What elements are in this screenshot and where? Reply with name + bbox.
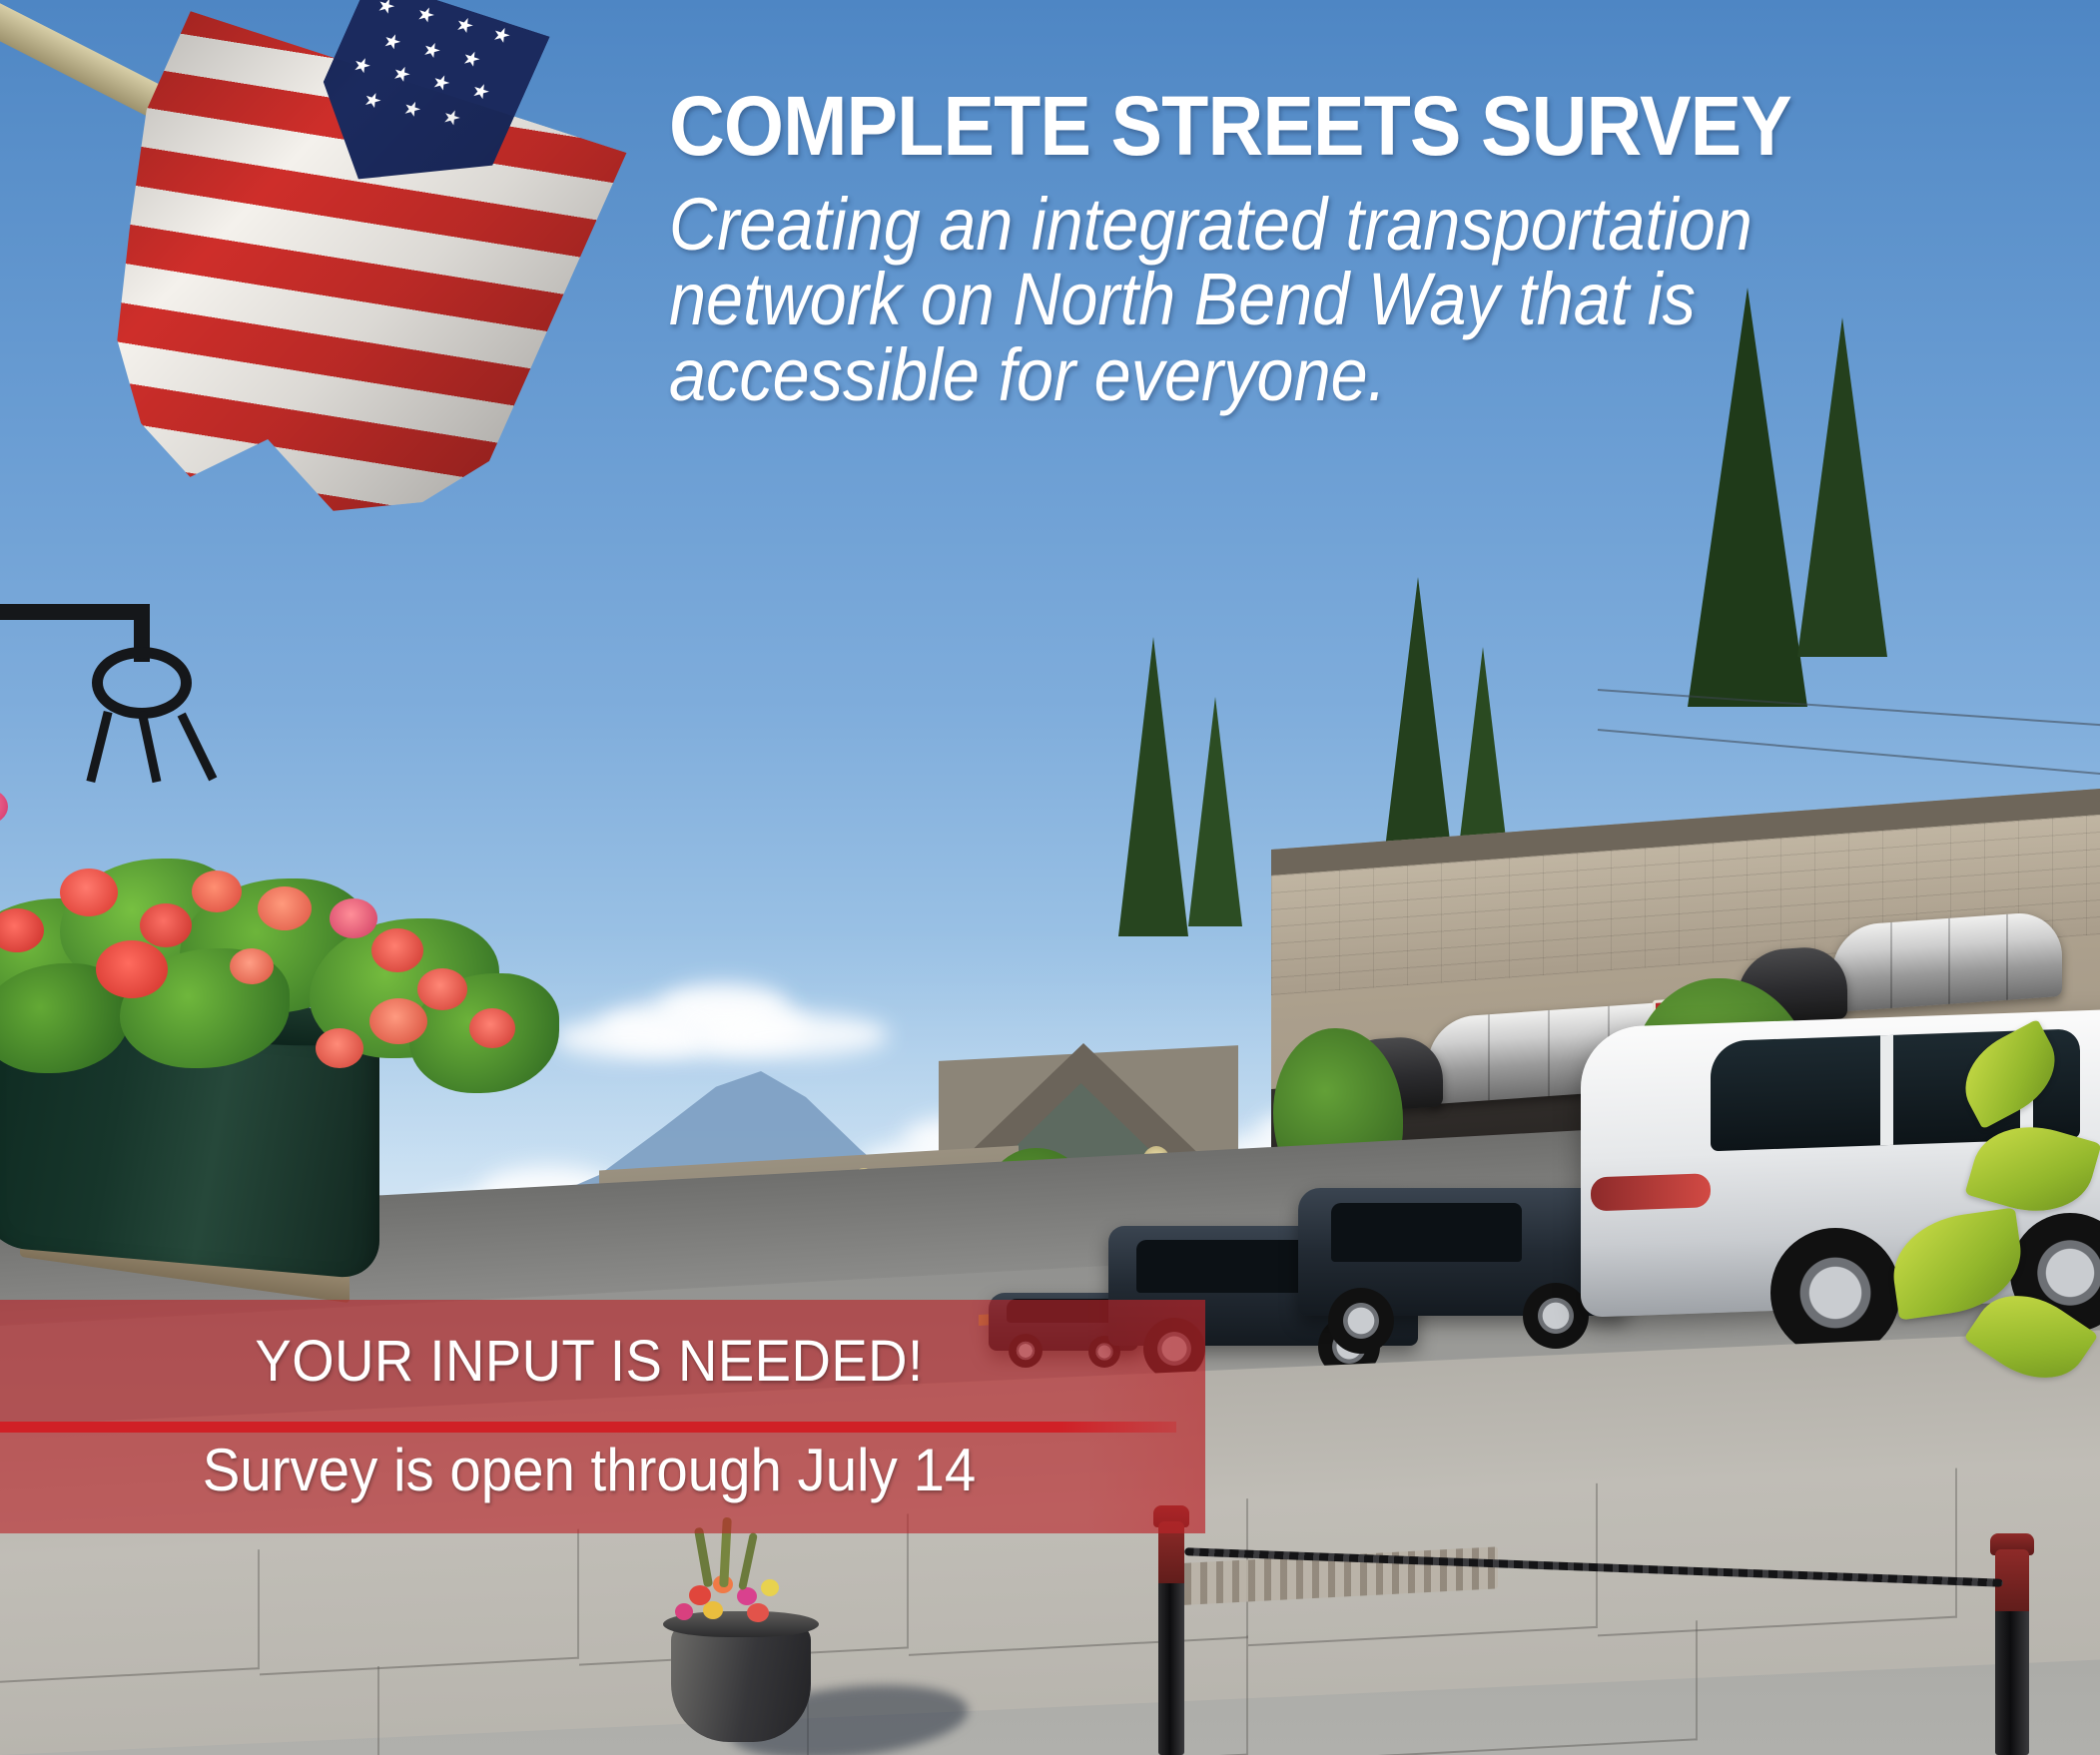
- poster-text-block: COMPLETE STREETS SURVEY Creating an inte…: [669, 78, 2067, 412]
- complete-streets-survey-poster: ★ ★ ★ ★ ★ ★ ★ ★ ★ ★ ★ ★ ★ ★ COMPLETE STR…: [0, 0, 2100, 1755]
- subtitle-line-3: accessible for everyone.: [669, 337, 1927, 412]
- awning-silver-2: [1832, 910, 2062, 1012]
- banner-divider: [0, 1422, 1176, 1433]
- bracket-ring: [92, 647, 192, 719]
- call-to-action-text: YOUR INPUT IS NEEDED!: [35, 1328, 1142, 1395]
- subtitle-line-2: network on North Bend Way that is: [669, 262, 1927, 336]
- suv-wheel-rear: [1770, 1228, 1900, 1358]
- page-title: COMPLETE STREETS SURVEY: [669, 78, 1955, 175]
- sidewalk-planter: [671, 1624, 811, 1742]
- survey-deadline-text: Survey is open through July 14: [35, 1436, 1142, 1504]
- subtitle-line-1: Creating an integrated transportation: [669, 187, 1927, 262]
- bollard-left: [1158, 1521, 1184, 1755]
- suv-taillight: [1591, 1173, 1711, 1211]
